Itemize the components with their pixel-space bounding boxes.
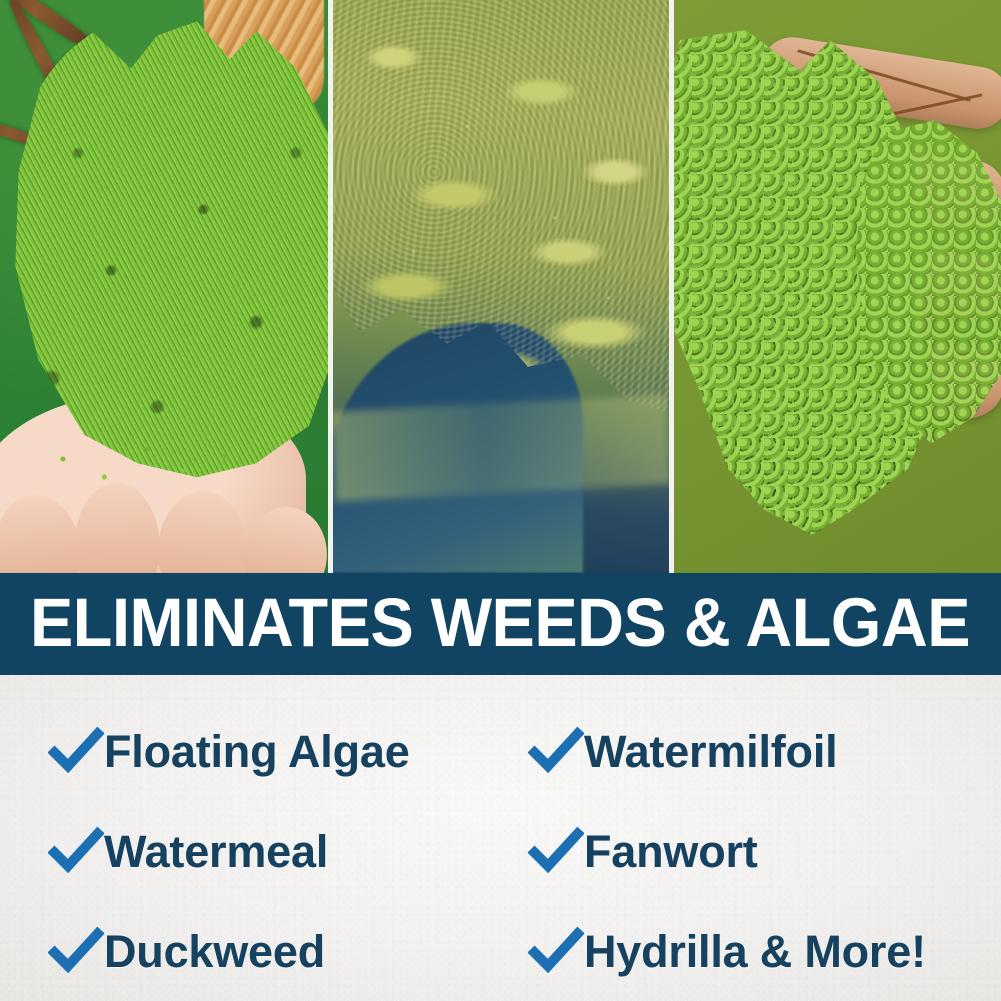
list-item: Watermilfoil bbox=[500, 701, 1001, 801]
watermeal-crumbs bbox=[40, 435, 270, 495]
list-item: Watermeal bbox=[0, 801, 500, 901]
list-item: Floating Algae bbox=[0, 701, 500, 801]
list-item-label: Hydrilla & More! bbox=[584, 929, 926, 974]
photo-panel-watermeal-mat-in-hand bbox=[0, 0, 328, 573]
check-icon bbox=[48, 925, 104, 978]
photo-panel-duckweed-on-fingers bbox=[674, 0, 1001, 573]
photo-strip bbox=[0, 0, 1001, 573]
list-item-label: Watermilfoil bbox=[584, 729, 837, 774]
list-item-label: Duckweed bbox=[104, 929, 325, 974]
photo-panel-floating-algae-on-water bbox=[333, 0, 669, 573]
list-item-label: Floating Algae bbox=[104, 729, 410, 774]
check-icon bbox=[48, 825, 104, 878]
check-icon bbox=[528, 725, 584, 778]
banner-title: ELIMINATES WEEDS & ALGAE bbox=[30, 588, 970, 660]
list-item: Duckweed bbox=[0, 901, 500, 1001]
list-item-label: Fanwort bbox=[584, 829, 758, 874]
checklist-grid: Floating Algae Watermilfoil Watermeal bbox=[0, 675, 1001, 1001]
check-icon bbox=[48, 725, 104, 778]
list-item-label: Watermeal bbox=[104, 829, 328, 874]
water-highlights bbox=[333, 0, 669, 573]
check-icon bbox=[528, 925, 584, 978]
checklist-section: Floating Algae Watermilfoil Watermeal bbox=[0, 675, 1001, 1001]
product-feature-poster: ELIMINATES WEEDS & ALGAE Floating Algae bbox=[0, 0, 1001, 1001]
list-item: Fanwort bbox=[500, 801, 1001, 901]
check-icon bbox=[528, 825, 584, 878]
list-item: Hydrilla & More! bbox=[500, 901, 1001, 1001]
headline-banner: ELIMINATES WEEDS & ALGAE bbox=[0, 573, 1001, 675]
